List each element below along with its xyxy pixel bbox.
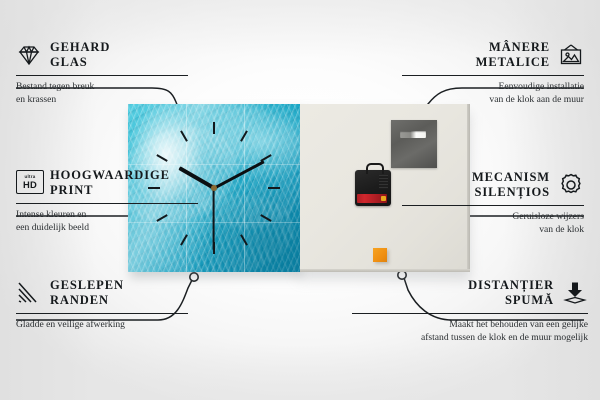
callout-title-line2: PRINT [50, 183, 93, 197]
callout-distantier-spuma: DISTANȚIER SPUMĂ Maakt het behouden van … [330, 278, 588, 344]
callout-title-line2: SPUMĂ [505, 293, 554, 307]
callout-mecanism-silentios: MECANISM SILENȚIOS Geruisloze wijzers va… [384, 170, 584, 236]
callout-rule [16, 313, 188, 314]
callout-desc-line1: Intense kleuren en [16, 209, 86, 220]
callout-title-line2: METALICE [476, 55, 550, 69]
callout-title-line1: MECANISM [472, 170, 550, 184]
foam-spacer [373, 248, 387, 262]
callout-desc-line2: van de klok aan de muur [489, 94, 584, 105]
beveled-edge-icon [16, 280, 42, 306]
callout-title-line1: HOOGWAARDIGE [50, 168, 170, 182]
callout-desc-line1: Maakt het behouden van een gelijke [449, 319, 588, 330]
callout-title-line1: GEHARD [50, 40, 110, 54]
callout-rule [402, 75, 584, 76]
mechanism-hanging-loop [366, 163, 384, 174]
callout-desc-line1: Eenvoudige installatie [498, 81, 584, 92]
callout-hoogwaardige-print: ultra HD HOOGWAARDIGE PRINT Intense kleu… [16, 168, 216, 234]
callout-desc-line2: en krassen [16, 94, 56, 105]
callout-desc-line2: afstand tussen de klok en de muur mogeli… [421, 332, 588, 343]
callout-title-line2: SILENȚIOS [475, 185, 551, 199]
metal-hanger-plate [391, 120, 437, 168]
callout-desc-line1: Gladde en veilige afwerking [16, 319, 125, 330]
wall-frame-icon [558, 42, 584, 68]
callout-desc-line2: van de klok [539, 224, 584, 235]
callout-rule [16, 203, 198, 204]
ultra-hd-icon-main-text: HD [23, 180, 37, 189]
callout-rule [16, 75, 188, 76]
callout-desc-line1: Bestand tegen breuk [16, 81, 94, 92]
ultra-hd-icon: ultra HD [16, 170, 42, 196]
hanger-slot [400, 131, 426, 138]
back-panel-bottom-edge [300, 269, 470, 272]
gear-icon [558, 172, 584, 198]
callout-geslepen-randen: GESLEPEN RANDEN Gladde en veilige afwerk… [16, 278, 206, 331]
callout-rule [352, 313, 588, 314]
mechanism-battery [357, 194, 387, 203]
callout-gehard-glas: GEHARD GLAS Bestand tegen breuk en krass… [16, 40, 206, 106]
callout-title-line1: MÂNERE [489, 40, 550, 54]
callout-desc-line2: een duidelijk beeld [16, 222, 89, 233]
callout-title-line1: DISTANȚIER [468, 278, 554, 292]
callout-desc-line1: Geruisloze wijzers [512, 211, 584, 222]
callout-title-line2: GLAS [50, 55, 88, 69]
callout-title-line1: GESLEPEN [50, 278, 124, 292]
down-arrow-stack-icon [562, 280, 588, 306]
callout-rule [402, 205, 584, 206]
infographic-canvas: GEHARD GLAS Bestand tegen breuk en krass… [0, 0, 600, 400]
callout-title-line2: RANDEN [50, 293, 109, 307]
diamond-icon [16, 42, 42, 68]
callout-manere-metalice: MÂNERE METALICE Eenvoudige installatie v… [384, 40, 584, 106]
